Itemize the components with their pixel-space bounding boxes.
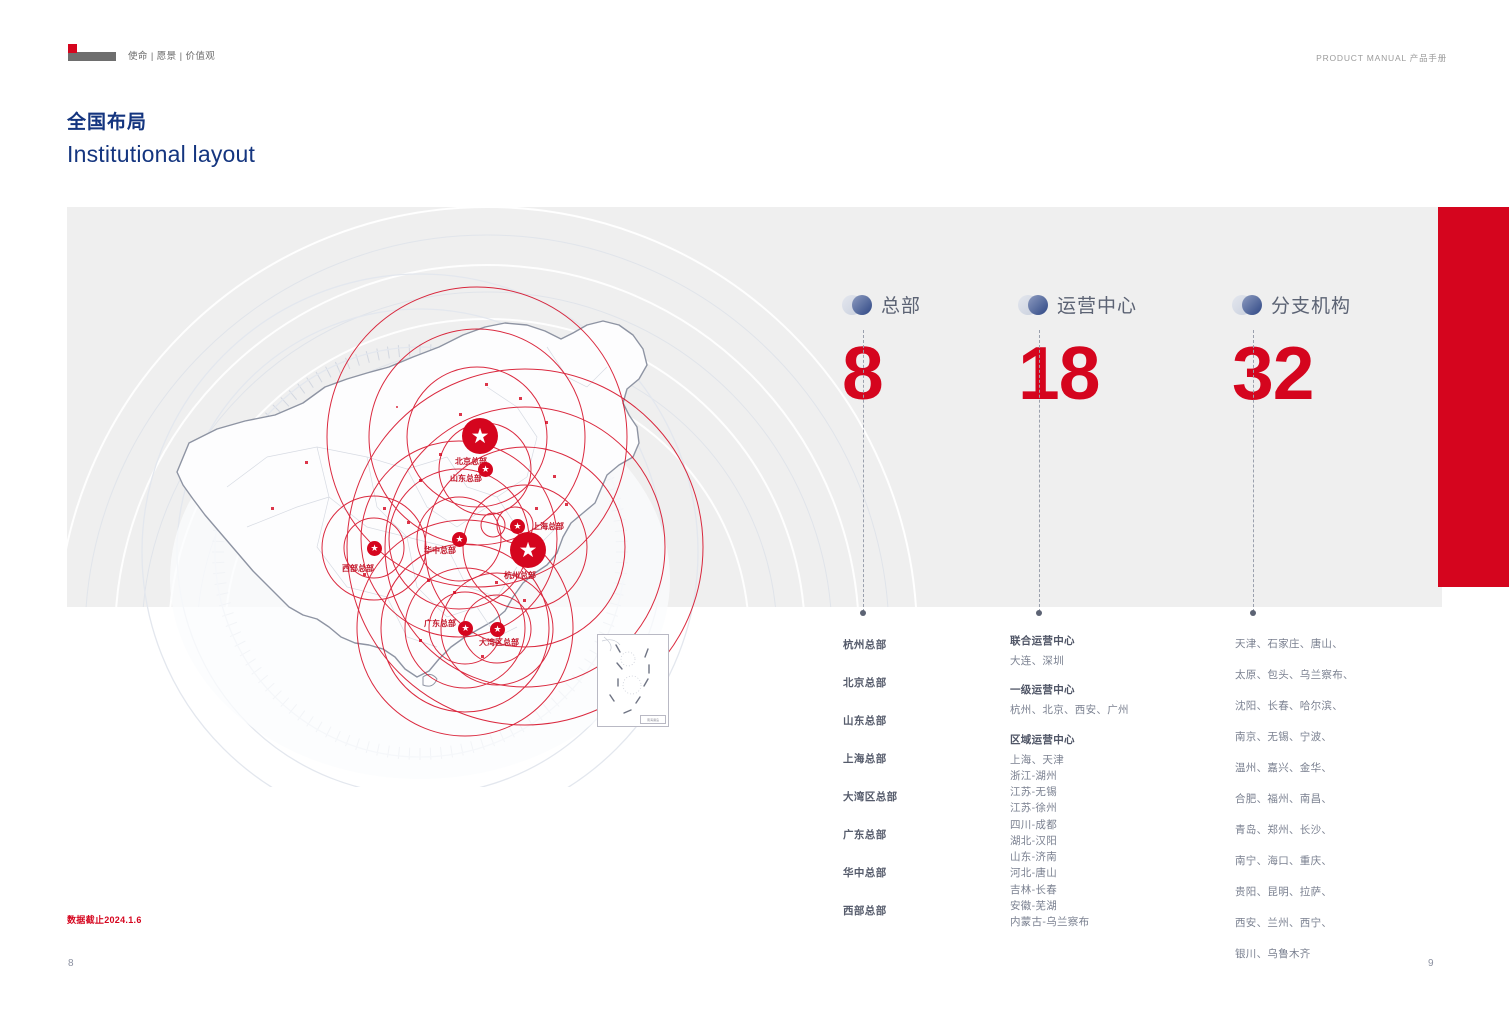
map-node-dawanqu[interactable]: ★ bbox=[490, 622, 505, 637]
stat-card-headquarters: 总部 8 bbox=[842, 291, 921, 411]
header-manual-label: PRODUCT MANUAL 产品手册 bbox=[1316, 52, 1447, 64]
two-circles-icon bbox=[842, 295, 872, 315]
operation-center-item: 山东-济南 bbox=[1010, 849, 1129, 865]
branch-list-item: 合肥、福州、南昌、 bbox=[1235, 791, 1354, 806]
branches-list: 天津、石家庄、唐山、太原、包头、乌兰察布、沈阳、长春、哈尔滨、南京、无锡、宁波、… bbox=[1235, 636, 1354, 977]
brand-logo: 使命 | 愿景 | 价值观 bbox=[60, 48, 215, 62]
operation-center-item: 吉林-长春 bbox=[1010, 882, 1129, 898]
map-label-huazhong: 华中总部 bbox=[424, 545, 456, 556]
south-sea-inset-map: 南海诸岛 bbox=[597, 634, 669, 727]
stat-connector-dot-3 bbox=[1250, 610, 1256, 616]
page-root: 使命 | 愿景 | 价值观 PRODUCT MANUAL 产品手册 全国布局 I… bbox=[0, 0, 1509, 1024]
stat-value: 18 bbox=[1018, 336, 1137, 411]
page-number-right: 9 bbox=[1428, 958, 1434, 969]
map-label-xibu: 西部总部 bbox=[342, 563, 374, 574]
data-cutoff-note: 数据截止2024.1.6 bbox=[67, 913, 142, 926]
star-icon: ★ bbox=[462, 418, 498, 454]
operation-centers-list: 联合运营中心大连、深圳一级运营中心杭州、北京、西安、广州区域运营中心上海、天津浙… bbox=[1010, 633, 1129, 943]
branch-list-item: 太原、包头、乌兰察布、 bbox=[1235, 667, 1354, 682]
red-accent-block bbox=[1438, 207, 1509, 587]
map-node-xibu[interactable]: ★ bbox=[367, 541, 382, 556]
map-node-beijing[interactable]: ★ bbox=[462, 418, 498, 454]
stat-value: 32 bbox=[1232, 336, 1351, 411]
operation-center-item: 大连、深圳 bbox=[1010, 653, 1129, 669]
operation-center-group-title: 一级运营中心 bbox=[1010, 682, 1129, 697]
stat-card-operation-centers: 运营中心 18 bbox=[1018, 291, 1137, 411]
hq-list-item: 广东总部 bbox=[843, 827, 898, 842]
page-header: 使命 | 愿景 | 价值观 PRODUCT MANUAL 产品手册 bbox=[0, 48, 1509, 78]
branch-list-item: 沈阳、长春、哈尔滨、 bbox=[1235, 698, 1354, 713]
star-icon: ★ bbox=[490, 622, 505, 637]
operation-center-group-title: 区域运营中心 bbox=[1010, 732, 1129, 747]
operation-center-item: 内蒙古-乌兰察布 bbox=[1010, 914, 1129, 930]
stat-connector-dot-2 bbox=[1036, 610, 1042, 616]
hq-list-item: 杭州总部 bbox=[843, 637, 898, 652]
stat-connector-dot-1 bbox=[860, 610, 866, 616]
headquarters-list: 杭州总部北京总部山东总部上海总部大湾区总部广东总部华中总部西部总部 bbox=[843, 637, 898, 941]
hq-list-item: 大湾区总部 bbox=[843, 789, 898, 804]
map-label-guangdong: 广东总部 bbox=[424, 618, 456, 629]
page-title: 全国布局 Institutional layout bbox=[67, 110, 255, 170]
brand-square-mark-icon bbox=[60, 48, 116, 62]
operation-center-item: 安徽-芜湖 bbox=[1010, 898, 1129, 914]
logo-bar-shape bbox=[68, 52, 116, 61]
star-icon: ★ bbox=[510, 532, 546, 568]
operation-center-group: 联合运营中心大连、深圳 bbox=[1010, 633, 1129, 669]
operation-center-item: 江苏-无锡 bbox=[1010, 784, 1129, 800]
circle-dark-icon bbox=[1242, 295, 1262, 315]
hq-list-item: 华中总部 bbox=[843, 865, 898, 880]
hq-list-item: 上海总部 bbox=[843, 751, 898, 766]
south-sea-inset-svg bbox=[598, 635, 668, 726]
logo-red-square-icon bbox=[68, 44, 77, 53]
branch-list-item: 温州、嘉兴、金华、 bbox=[1235, 760, 1354, 775]
page-title-en: Institutional layout bbox=[67, 138, 255, 170]
page-number-left: 8 bbox=[68, 958, 74, 969]
operation-center-item: 河北-唐山 bbox=[1010, 865, 1129, 881]
branch-list-item: 天津、石家庄、唐山、 bbox=[1235, 636, 1354, 651]
hq-list-item: 西部总部 bbox=[843, 903, 898, 918]
stat-header: 运营中心 bbox=[1018, 291, 1137, 318]
branch-list-item: 贵阳、昆明、拉萨、 bbox=[1235, 884, 1354, 899]
branch-list-item: 银川、乌鲁木齐 bbox=[1235, 946, 1354, 961]
star-icon: ★ bbox=[458, 621, 473, 636]
stat-title: 分支机构 bbox=[1271, 291, 1351, 318]
inset-stamp-label: 南海诸岛 bbox=[640, 715, 666, 724]
stat-title: 总部 bbox=[881, 291, 921, 318]
branch-list-item: 南宁、海口、重庆、 bbox=[1235, 853, 1354, 868]
stat-header: 分支机构 bbox=[1232, 291, 1351, 318]
stat-connector-line-2 bbox=[1039, 330, 1040, 612]
stat-header: 总部 bbox=[842, 291, 921, 318]
page-title-cn: 全国布局 bbox=[67, 110, 255, 136]
operation-center-item: 江苏-徐州 bbox=[1010, 800, 1129, 816]
logo-tagline: 使命 | 愿景 | 价值观 bbox=[128, 48, 215, 62]
operation-center-group: 区域运营中心上海、天津浙江-湖州江苏-无锡江苏-徐州四川-成都湖北-汉阳山东-济… bbox=[1010, 732, 1129, 931]
hq-list-item: 山东总部 bbox=[843, 713, 898, 728]
map-node-guangdong[interactable]: ★ bbox=[458, 621, 473, 636]
operation-center-group: 一级运营中心杭州、北京、西安、广州 bbox=[1010, 682, 1129, 718]
circle-dark-icon bbox=[1028, 295, 1048, 315]
stat-title: 运营中心 bbox=[1057, 291, 1137, 318]
operation-center-item: 湖北-汉阳 bbox=[1010, 833, 1129, 849]
circle-dark-icon bbox=[852, 295, 872, 315]
operation-center-group-title: 联合运营中心 bbox=[1010, 633, 1129, 648]
stat-value: 8 bbox=[842, 336, 921, 411]
branch-list-item: 青岛、郑州、长沙、 bbox=[1235, 822, 1354, 837]
operation-center-item: 浙江-湖州 bbox=[1010, 768, 1129, 784]
branch-list-item: 南京、无锡、宁波、 bbox=[1235, 729, 1354, 744]
branch-list-item: 西安、兰州、西宁、 bbox=[1235, 915, 1354, 930]
operation-center-item: 上海、天津 bbox=[1010, 752, 1129, 768]
two-circles-icon bbox=[1018, 295, 1048, 315]
star-icon: ★ bbox=[367, 541, 382, 556]
hq-list-item: 北京总部 bbox=[843, 675, 898, 690]
map-node-hangzhou[interactable]: ★ bbox=[510, 532, 546, 568]
two-circles-icon bbox=[1232, 295, 1262, 315]
map-label-dawanqu: 大湾区总部 bbox=[479, 637, 519, 648]
map-label-shandong: 山东总部 bbox=[450, 473, 482, 484]
stat-connector-line-1 bbox=[863, 330, 864, 612]
map-label-shanghai: 上海总部 bbox=[532, 521, 564, 532]
operation-center-item: 四川-成都 bbox=[1010, 817, 1129, 833]
map-label-hangzhou: 杭州总部 bbox=[504, 570, 536, 581]
stat-connector-line-3 bbox=[1253, 330, 1254, 612]
operation-center-item: 杭州、北京、西安、广州 bbox=[1010, 702, 1129, 718]
stat-card-branches: 分支机构 32 bbox=[1232, 291, 1351, 411]
